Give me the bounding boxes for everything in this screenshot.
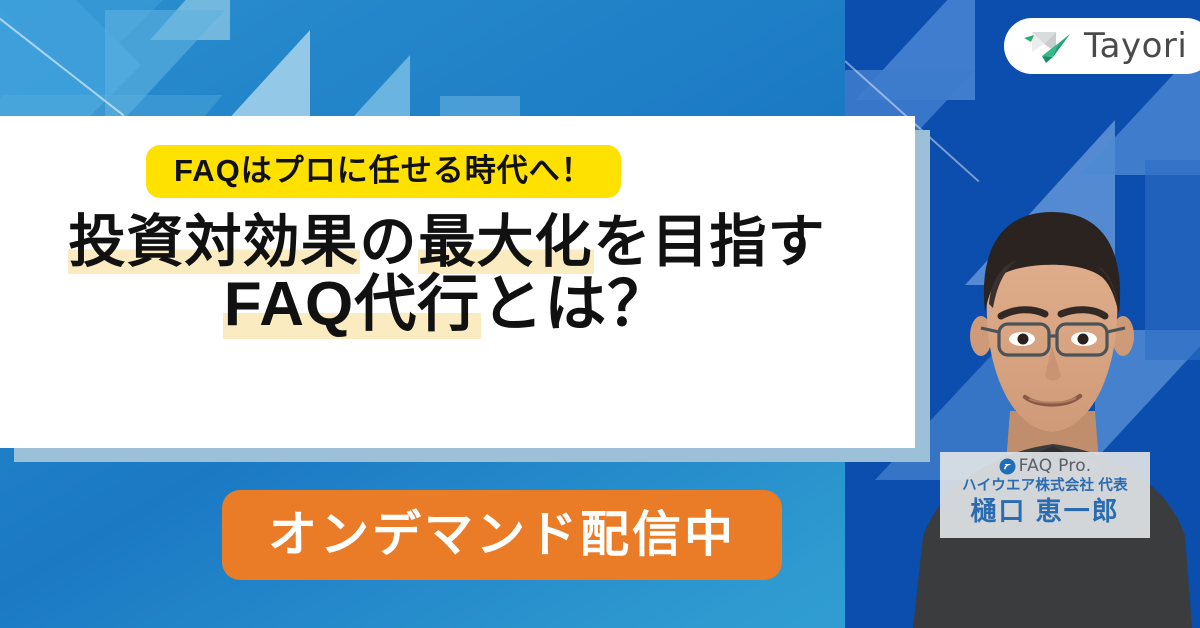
tayori-logo-text: Tayori bbox=[1084, 29, 1187, 63]
paper-plane-envelope-icon bbox=[1022, 26, 1074, 66]
on-demand-cta-button[interactable]: オンデマンド配信中 bbox=[222, 490, 782, 580]
content-card: FAQはプロに任せる時代へ！ 投資対効果の最大化を目指す FAQ代行とは？ bbox=[0, 116, 915, 448]
faq-pro-logo-text: FAQ Pro. bbox=[1019, 458, 1092, 475]
eyebrow-badge: FAQはプロに任せる時代へ！ bbox=[146, 145, 621, 198]
faq-pro-logo: FAQ Pro. bbox=[940, 458, 1150, 475]
headline-highlight: 最大化 bbox=[418, 210, 594, 274]
speaker-name-plate: FAQ Pro. ハイウエア株式会社 代表 樋口 恵一郎 bbox=[940, 452, 1150, 538]
content-card-underline bbox=[40, 448, 930, 462]
speaker-name: 樋口 恵一郎 bbox=[940, 496, 1150, 527]
headline-plain: とは？ bbox=[481, 270, 670, 339]
headline-highlight: 投資対効果 bbox=[68, 210, 360, 274]
webinar-banner: FAQはプロに任せる時代へ！ 投資対効果の最大化を目指す FAQ代行とは？ オン… bbox=[0, 0, 1200, 628]
faq-pro-circle-icon bbox=[999, 458, 1016, 475]
headline-plain: の bbox=[360, 210, 418, 274]
headline-line-1: 投資対効果の最大化を目指す bbox=[0, 212, 899, 272]
headline-line-2: FAQ代行とは？ bbox=[0, 272, 899, 338]
speaker-company: ハイウエア株式会社 代表 bbox=[940, 478, 1150, 495]
speaker-photo bbox=[905, 196, 1200, 628]
page-title: 投資対効果の最大化を目指す FAQ代行とは？ bbox=[0, 212, 899, 338]
headline-plain: を目指す bbox=[594, 210, 826, 274]
tayori-logo[interactable]: Tayori bbox=[1004, 18, 1200, 74]
headline-highlight: FAQ代行 bbox=[223, 270, 481, 339]
